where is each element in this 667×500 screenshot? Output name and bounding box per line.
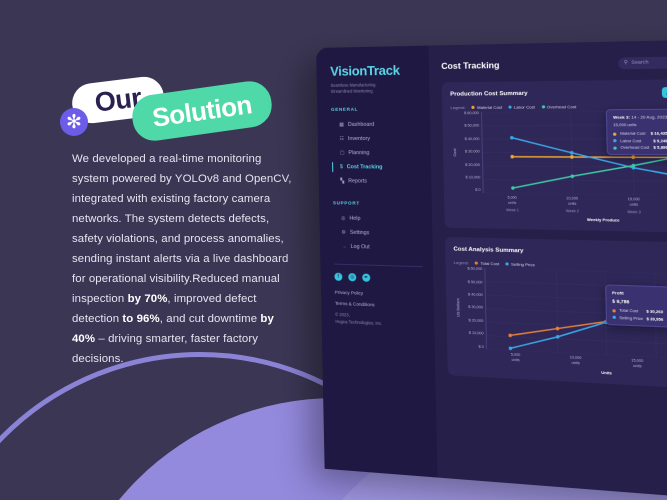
tooltip-row-material-cost: Material Cost $ 16,435 xyxy=(613,131,667,135)
twitter-icon[interactable]: ✒ xyxy=(362,274,370,282)
y-tick-label: $ 30,000 xyxy=(468,306,483,310)
month-filter-button[interactable]: Aug 2023 ▾ xyxy=(661,87,667,98)
search-input[interactable]: ⚲ Search xyxy=(618,55,667,69)
calendar-icon: ▢ xyxy=(340,150,345,156)
copyright-text: © 2023, Hugna Technologies, Inc. xyxy=(335,312,424,329)
plot-canvas-1: Week 3: 14 - 20 Aug, 2023 15,000 units M… xyxy=(481,111,667,197)
question-icon: ◎ xyxy=(341,216,345,222)
y-axis-ticks-2: $ 60,000$ 50,000$ 40,000$ 30,000$ 20,000… xyxy=(461,268,486,350)
bar-chart-icon: ▚ xyxy=(340,179,344,185)
x-tick-label: 10,000unitsWeek 2 xyxy=(542,196,603,215)
sidebar-group-title-general: GENERAL xyxy=(331,107,420,113)
card-title: Cost Analysis Summary xyxy=(453,247,523,255)
hero-copy-column: Our Solution ✻ We developed a real-time … xyxy=(0,0,330,500)
plot-canvas-2: Profit $ 9,786 Total Cost $ 30,260 Selli… xyxy=(484,268,667,361)
legend-label: Legend: xyxy=(454,260,469,266)
tooltip-row-overhead-cost: Overhead Cost $ 5,899 xyxy=(614,145,667,149)
dollar-icon: $ xyxy=(340,164,343,170)
legend-item-material-cost: Material Cost xyxy=(472,105,502,110)
card-production-cost-summary: Production Cost Summary Aug 2023 ▾ Units… xyxy=(442,79,667,234)
legend-item-total-cost: Total Cost xyxy=(475,261,499,267)
page-title: Cost Tracking xyxy=(441,60,499,71)
legend-item-overhead-cost: Overhead Cost xyxy=(541,104,576,110)
brand-tagline: Seamless Manufacturing. Streamlined Moni… xyxy=(330,82,419,95)
topbar: Cost Tracking ⚲ Search ☉ xyxy=(441,54,667,72)
tooltip-date-range: 14 - 20 Aug, 2023 xyxy=(631,114,667,120)
y-tick-label: $ 10,000 xyxy=(465,176,480,180)
sidebar-group-support: SUPPORT ◎ Help ⚙ Settings → Log Out xyxy=(333,201,423,257)
dashboard-window: VisionTrack Seamless Manufacturing. Stre… xyxy=(316,39,667,500)
tooltip-title: Week 3: 14 - 20 Aug, 2023 xyxy=(613,114,667,120)
sidebar-item-label: Dashboard xyxy=(348,122,374,128)
tooltip-row-value: $ 9,246 xyxy=(653,139,667,143)
y-tick-label: $ 40,000 xyxy=(468,293,483,297)
tooltip-profit-value: $ 9,786 xyxy=(612,299,663,306)
y-tick-label: $ 50,000 xyxy=(468,281,483,285)
instagram-icon[interactable]: ◎ xyxy=(348,273,356,281)
legend-item-labor-cost: Labor Cost xyxy=(508,104,535,109)
sidebar-item-log-out[interactable]: → Log Out xyxy=(334,240,423,256)
legend-item-selling-price: Selling Price xyxy=(506,261,535,267)
tooltip-row-value: $ 16,435 xyxy=(651,131,667,135)
sidebar-item-label: Reports xyxy=(348,179,367,185)
sidebar: VisionTrack Seamless Manufacturing. Stre… xyxy=(316,46,438,478)
logout-icon: → xyxy=(342,244,347,250)
footer-link-terms-conditions[interactable]: Terms & Conditions xyxy=(335,301,424,310)
tooltip-row-value: $ 39,956 xyxy=(646,317,663,322)
brand-logo: VisionTrack xyxy=(330,62,419,79)
grid-icon: ▦ xyxy=(339,122,344,128)
y-tick-label: $ 20,000 xyxy=(469,319,484,323)
chart-area-2: US Dollars $ 60,000$ 50,000$ 40,000$ 30,… xyxy=(454,267,667,361)
y-tick-label: $ 60,000 xyxy=(464,112,479,116)
tooltip-swatch xyxy=(613,316,616,319)
sidebar-item-dashboard[interactable]: ▦ Dashboard xyxy=(331,118,420,132)
sidebar-divider xyxy=(334,264,423,268)
sidebar-item-label: Help xyxy=(349,216,360,222)
tooltip-row-name: Total Cost xyxy=(619,309,643,314)
tooltip-row-labor-cost: Labor Cost $ 9,246 xyxy=(614,139,667,143)
legend-text: Selling Price xyxy=(511,262,535,268)
y-tick-label: $ 20,000 xyxy=(465,163,480,167)
sidebar-item-label: Settings xyxy=(350,230,370,236)
tooltip-units: 15,000 units xyxy=(613,123,667,127)
asterisk-flower-icon: ✻ xyxy=(60,108,88,136)
legend-swatch xyxy=(541,105,544,108)
box-icon: ☷ xyxy=(339,136,344,142)
x-axis-label-1: Weekly Produce xyxy=(483,216,667,225)
search-placeholder: Search xyxy=(631,60,648,66)
tooltip-swatch xyxy=(614,139,617,142)
legend-swatch xyxy=(508,106,511,109)
tooltip-row-value: $ 5,899 xyxy=(653,146,667,150)
hero-paragraph: We developed a real-time monitoring syst… xyxy=(72,150,294,369)
social-links: f ◎ ✒ xyxy=(334,273,423,284)
tooltip-swatch xyxy=(613,132,616,135)
sidebar-item-label: Inventory xyxy=(348,136,370,142)
legend-text: Overhead Cost xyxy=(547,104,577,110)
x-tick-label: 15,000units xyxy=(606,357,667,371)
sidebar-item-inventory[interactable]: ☷ Inventory xyxy=(331,132,420,146)
y-tick-label: $ 30,000 xyxy=(465,151,480,155)
sidebar-group-title-support: SUPPORT xyxy=(333,201,422,207)
tooltip-swatch xyxy=(612,309,615,312)
legend-swatch xyxy=(506,263,509,266)
legend-label: Legend: xyxy=(450,105,465,110)
main-content: Cost Tracking ⚲ Search ☉ Production Cost… xyxy=(428,39,667,500)
sidebar-group-general: GENERAL ▦ Dashboard ☷ Inventory ▢ Planni… xyxy=(331,107,421,190)
chart-area-1: Cost $ 60,000$ 50,000$ 40,000$ 30,000$ 2… xyxy=(451,111,667,197)
chart-tooltip-1: Week 3: 14 - 20 Aug, 2023 15,000 units M… xyxy=(606,109,667,156)
tooltip-row-selling-price: Selling Price $ 39,956 xyxy=(613,315,664,321)
tooltip-row-name: Overhead Cost xyxy=(620,145,650,149)
tooltip-swatch xyxy=(614,146,617,149)
x-axis-ticks-1: 5,000unitsWeek 110,000unitsWeek 215,000u… xyxy=(483,195,667,217)
facebook-icon[interactable]: f xyxy=(334,273,342,281)
legend-swatch xyxy=(472,106,475,109)
sidebar-item-label: Planning xyxy=(348,150,369,156)
tooltip-row-name: Labor Cost xyxy=(620,139,650,143)
card-cost-analysis-summary: Cost Analysis Summary Aug 2023 ▾ Legend:… xyxy=(445,237,667,391)
tooltip-row-total-cost: Total Cost $ 30,260 xyxy=(612,308,663,314)
tooltip-row-value: $ 30,260 xyxy=(646,310,663,315)
y-tick-label: $ 60,000 xyxy=(467,268,482,272)
search-icon: ⚲ xyxy=(624,60,628,67)
tooltip-week: Week 3: xyxy=(613,114,630,119)
sidebar-item-label: Cost Tracking xyxy=(347,164,383,170)
tooltip-title: Profit xyxy=(612,290,663,297)
gear-icon: ⚙ xyxy=(341,230,346,236)
card-controls: Aug 2023 ▾ Units ▾ xyxy=(661,86,667,98)
x-tick-label: 5,000units xyxy=(486,351,545,365)
legend-text: Material Cost xyxy=(477,105,502,110)
sidebar-item-cost-tracking[interactable]: $ Cost Tracking xyxy=(332,160,421,175)
sidebar-item-planning[interactable]: ▢ Planning xyxy=(332,146,421,161)
hero-badge: Our Solution ✻ xyxy=(72,78,322,148)
legend-text: Total Cost xyxy=(480,261,499,267)
chart-tooltip-2: Profit $ 9,786 Total Cost $ 30,260 Selli… xyxy=(605,285,667,328)
sidebar-item-label: Log Out xyxy=(351,244,370,251)
legend-text: Labor Cost xyxy=(514,104,535,109)
card-header: Cost Analysis Summary Aug 2023 ▾ xyxy=(453,245,667,263)
card-header: Production Cost Summary Aug 2023 ▾ Units… xyxy=(450,86,667,99)
sidebar-item-reports[interactable]: ▚ Reports xyxy=(332,174,421,189)
y-axis-ticks-1: $ 60,000$ 50,000$ 40,000$ 30,000$ 20,000… xyxy=(458,112,483,193)
topbar-actions: ⚲ Search ☉ xyxy=(618,54,667,69)
y-tick-label: $ 0 xyxy=(475,189,480,193)
y-tick-label: $ 50,000 xyxy=(464,125,479,129)
footer-link-privacy-policy[interactable]: Privacy Policy xyxy=(335,290,424,298)
y-tick-label: $ 10,000 xyxy=(469,332,484,336)
card-title: Production Cost Summary xyxy=(450,91,528,98)
x-tick-label: 5,000unitsWeek 1 xyxy=(483,195,543,214)
tooltip-row-name: Material Cost xyxy=(620,131,647,135)
tooltip-row-name: Selling Price xyxy=(619,316,643,321)
legend-swatch xyxy=(475,262,478,265)
x-tick-label: 15,000unitsWeek 3 xyxy=(603,197,666,216)
x-tick-label: 10,000units xyxy=(545,354,606,368)
y-tick-label: $ 40,000 xyxy=(465,138,480,142)
y-tick-label: $ 0 xyxy=(479,345,484,349)
